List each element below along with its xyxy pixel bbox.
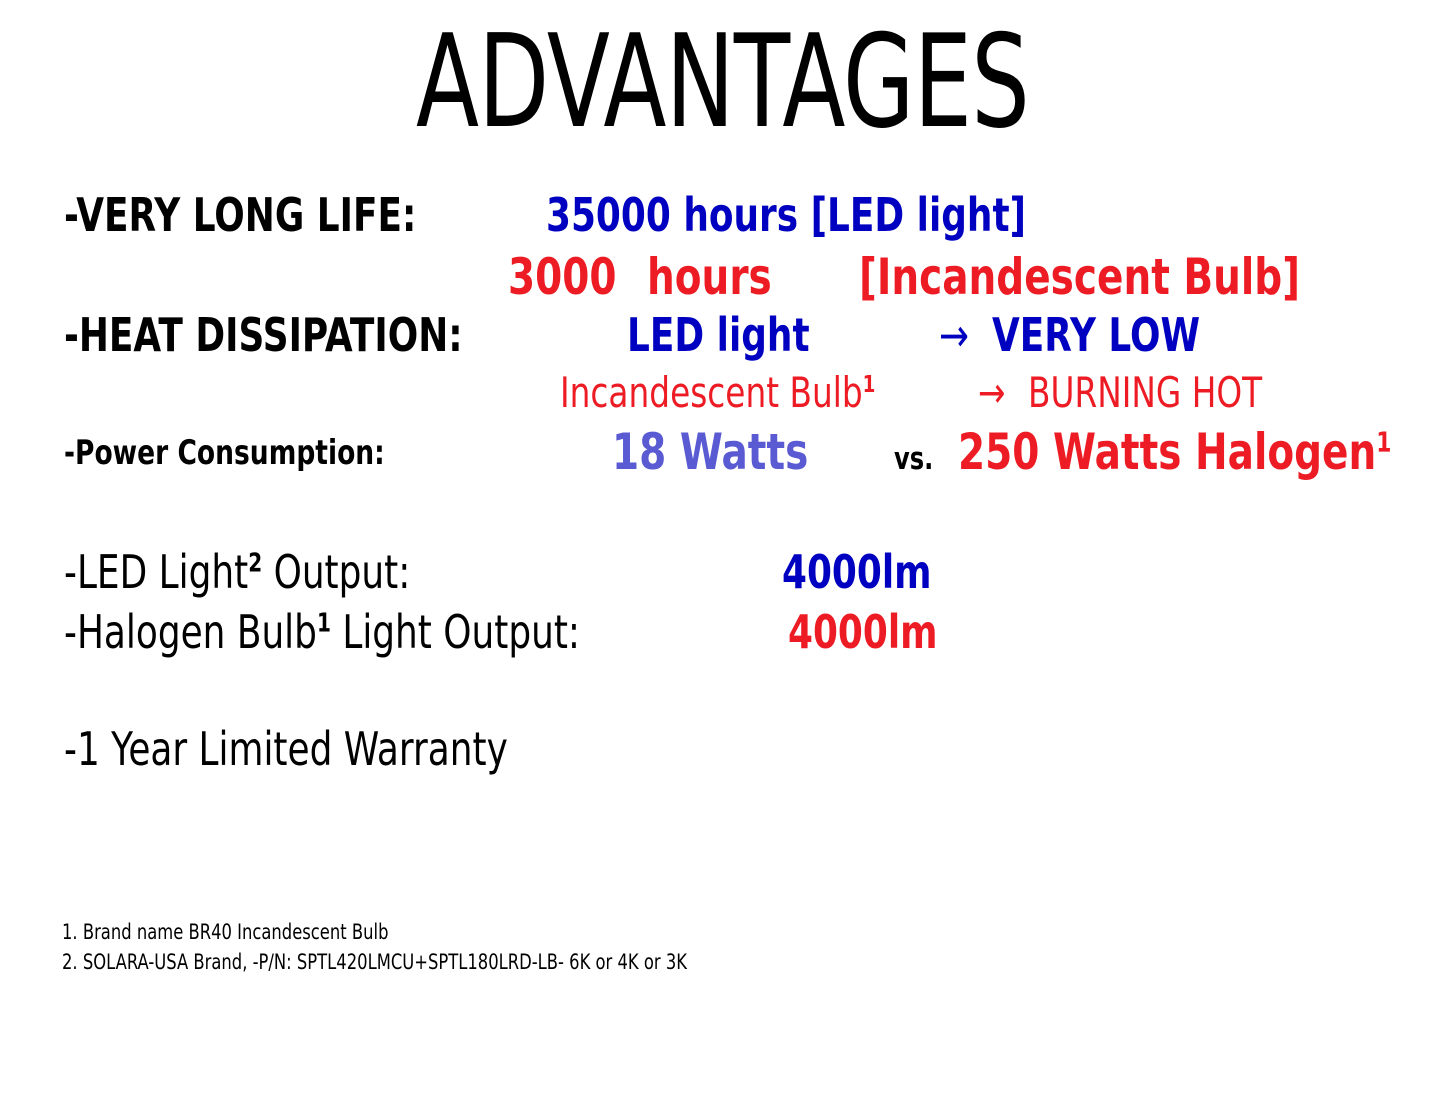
very-long-life-led-value: 35000 hours [LED light] xyxy=(546,192,1026,238)
row-led-light-output-value: 4000lm xyxy=(782,549,974,595)
row-halogen-light-output: -Halogen Bulb1 Light Output: xyxy=(64,609,726,655)
led-light-output-label-post: Output: xyxy=(262,545,410,599)
footnote-marker: 1 xyxy=(317,609,331,639)
row-heat-dissipation-incandescent: Incandescent Bulb1→BURNING HOT xyxy=(560,372,1328,414)
halogen-value-text: 250 Watts Halogen xyxy=(958,423,1376,481)
slide-canvas: ADVANTAGES -VERY LONG LIFE:35000 hours [… xyxy=(0,0,1445,1117)
led-light-output-label-pre: -LED Light xyxy=(64,545,248,599)
row-power-consumption-values: 18 Wattsvs.250 Watts Halogen1 xyxy=(612,427,1445,477)
row-power-consumption-label: -Power Consumption: xyxy=(64,436,475,470)
warranty-label: -1 Year Limited Warranty xyxy=(64,726,508,772)
footnotes-block: 1. Brand name BR40 Incandescent Bulb 2. … xyxy=(62,918,863,978)
very-long-life-incandescent-number: 3000 xyxy=(508,252,617,302)
halogen-light-output-label-pre: -Halogen Bulb xyxy=(64,605,317,659)
row-heat-dissipation: -HEAT DISSIPATION:LED light→VERY LOW xyxy=(64,312,1259,358)
arrow-right-icon: → xyxy=(978,372,1005,414)
row-warranty: -1 Year Limited Warranty xyxy=(64,726,633,772)
arrow-right-icon: → xyxy=(939,312,969,358)
heat-dissipation-label: -HEAT DISSIPATION: xyxy=(64,312,463,358)
very-long-life-incandescent-unit: hours xyxy=(647,252,772,302)
footnote-marker: 1 xyxy=(863,370,876,398)
halogen-light-output-label: -Halogen Bulb1 Light Output: xyxy=(64,609,580,655)
row-very-long-life: -VERY LONG LIFE:35000 hours [LED light] xyxy=(64,192,1161,238)
power-consumption-led-value: 18 Watts xyxy=(612,427,808,477)
heat-dissipation-led-source: LED light xyxy=(627,312,810,358)
row-very-long-life-incandescent: 3000hours[Incandescent Bulb] xyxy=(508,252,1425,302)
halogen-light-output-value: 4000lm xyxy=(788,609,938,655)
footnote-2: 2. SOLARA-USA Brand, -P/N: SPTL420LMCU+S… xyxy=(62,948,863,978)
led-light-output-value: 4000lm xyxy=(782,549,932,595)
footnote-marker: 1 xyxy=(1376,425,1391,458)
power-consumption-separator: vs. xyxy=(894,444,933,475)
row-led-light-output: -LED Light2 Output: xyxy=(64,549,508,595)
row-halogen-light-output-value: 4000lm xyxy=(788,609,980,655)
footnote-1-text: 1. Brand name BR40 Incandescent Bulb xyxy=(62,918,388,948)
very-long-life-incandescent-source: [Incandescent Bulb] xyxy=(859,252,1300,302)
footnote-2-text: 2. SOLARA-USA Brand, -P/N: SPTL420LMCU+S… xyxy=(62,948,687,978)
page-title: ADVANTAGES xyxy=(202,14,1242,152)
heat-dissipation-incandescent-result: BURNING HOT xyxy=(1028,372,1262,414)
incandescent-source-text: Incandescent Bulb xyxy=(560,368,863,417)
heat-dissipation-incandescent-source: Incandescent Bulb1 xyxy=(560,372,875,414)
heat-dissipation-led-result: VERY LOW xyxy=(992,312,1200,358)
power-consumption-label: -Power Consumption: xyxy=(64,436,385,470)
footnote-marker: 2 xyxy=(248,549,262,579)
halogen-light-output-label-post: Light Output: xyxy=(331,605,580,659)
led-light-output-label: -LED Light2 Output: xyxy=(64,549,410,595)
footnote-1: 1. Brand name BR40 Incandescent Bulb xyxy=(62,918,863,948)
power-consumption-halogen-value: 250 Watts Halogen1 xyxy=(958,427,1391,477)
very-long-life-label: -VERY LONG LIFE: xyxy=(64,192,416,238)
